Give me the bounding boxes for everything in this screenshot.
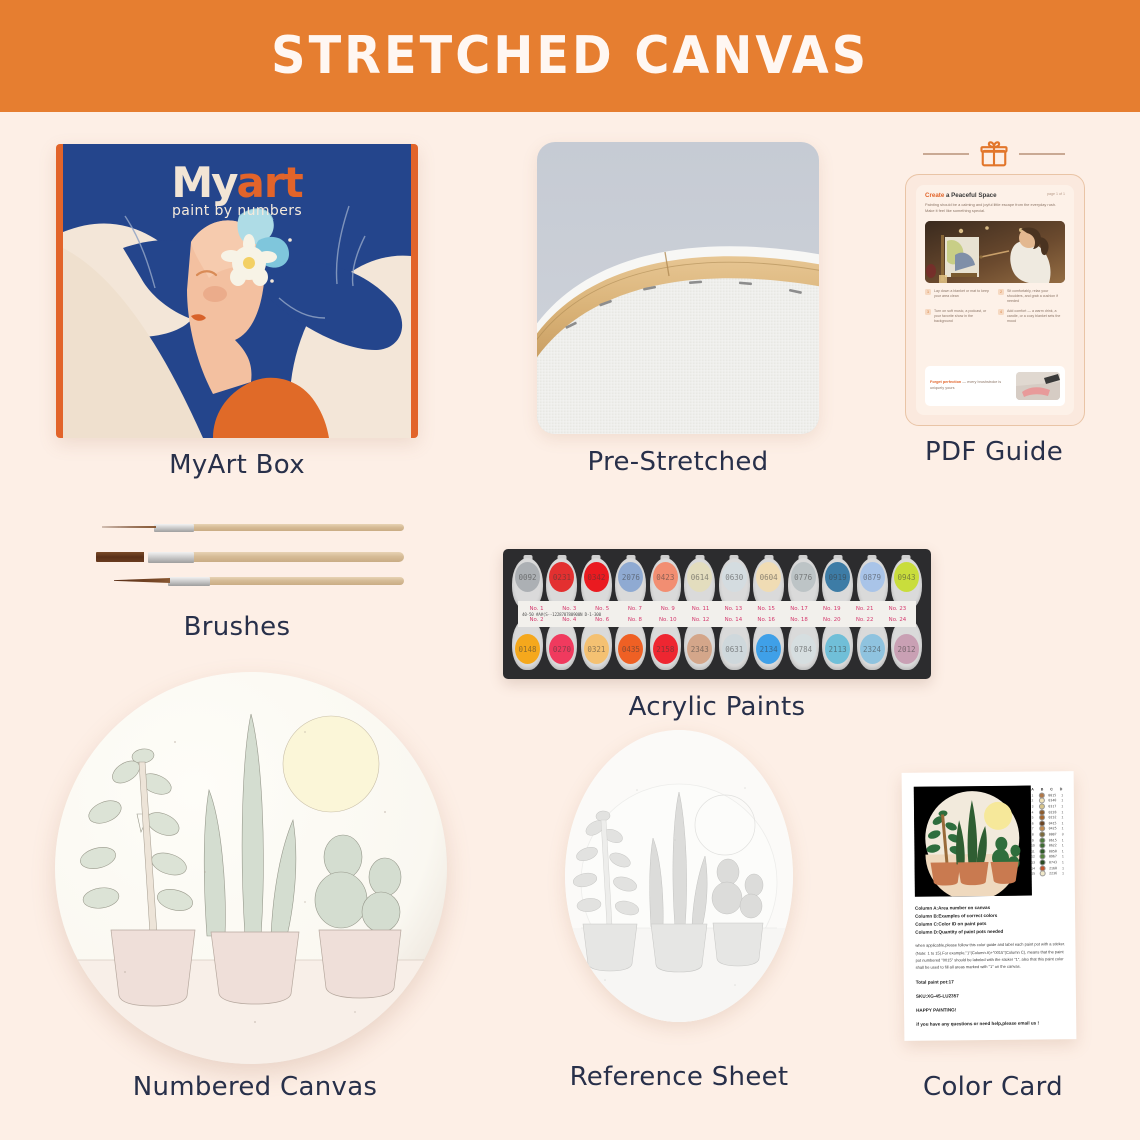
product-pdf-guide[interactable]: page 1 of 1 Create a Peaceful Space Pain… [901, 132, 1087, 432]
pdf-tip: 4 Add comfort — a warm drink, a candle, … [998, 309, 1065, 325]
divider-right [1019, 153, 1065, 155]
product-myart-box[interactable]: Myart paint by numbers MyArt Box [56, 144, 418, 438]
reference-sheet-image: Myart [565, 730, 793, 1022]
paint-code: 0270 [553, 645, 571, 654]
numbered-canvas-art [55, 672, 447, 1064]
col-b-header: B [1037, 787, 1047, 791]
caption-numbered-canvas: Numbered Canvas [55, 1072, 455, 1102]
paint-number: No. 2 [521, 617, 552, 623]
cell-c: 0967 [1047, 855, 1060, 859]
paint-number: No. 22 [849, 617, 880, 623]
paint-tray: 0092 0231 0342 2076 0423 0614 0630 0604 … [503, 549, 931, 679]
pdf-tip: 3 Turn on soft music, a podcast, or your… [925, 309, 992, 325]
cell-a: 6 [1028, 821, 1037, 825]
brush-flat [96, 552, 404, 562]
paint-code: 0342 [587, 573, 605, 582]
color-card-text: Column A:Area number on canvas Column B:… [915, 903, 1066, 1028]
cell-c: 2160 [1047, 866, 1060, 870]
cell-c: 0015 [1046, 793, 1059, 797]
paint-number: No. 10 [652, 617, 683, 623]
pdf-tip: 1 Lay down a blanket or mat to keep your… [925, 289, 992, 305]
cell-a: 7 [1028, 827, 1037, 831]
cell-d: 1 [1059, 838, 1066, 842]
paint-code: 0148 [518, 645, 536, 654]
cell-c: 0340 [1046, 799, 1059, 803]
paint-number: No. 12 [685, 617, 716, 623]
cell-d: 1 [1059, 804, 1066, 808]
cell-c: 0087 [1046, 832, 1059, 836]
paint-number: No. 14 [718, 617, 749, 623]
brush-round-medium [114, 577, 404, 585]
cell-d: 1 [1059, 860, 1066, 864]
cell-d: 1 [1059, 815, 1066, 819]
cell-d: 1 [1059, 793, 1066, 797]
product-pre-stretched[interactable]: Pre-Stretched [537, 142, 819, 434]
paint-code: 2158 [656, 645, 674, 654]
pdf-footer-bold: Forget perfection [930, 380, 961, 384]
pdf-footer-text: Forget perfection — every brushstroke is… [930, 380, 1012, 391]
cell-a: 8 [1028, 832, 1037, 836]
color-card-image: A B C D 100151 203401 303171 402281 5023… [902, 771, 1077, 1041]
cell-a: 3 [1028, 804, 1037, 808]
cell-c: 0228 [1046, 810, 1059, 814]
pdf-footer-note: Forget perfection — every brushstroke is… [925, 366, 1065, 406]
paint-label-strip: No. 1 No. 3 No. 5 No. 7 No. 9 No. 11 No.… [518, 601, 916, 627]
cell-a: 13 [1029, 860, 1038, 864]
cell-c: 0317 [1046, 804, 1059, 808]
gift-icon-row [901, 132, 1087, 176]
cell-d: 3 [1059, 832, 1066, 836]
cell-c: 2236 [1047, 871, 1060, 875]
paint-code: 0943 [897, 573, 915, 582]
paint-code: 0423 [656, 573, 674, 582]
paint-code: 2343 [691, 645, 709, 654]
box-image: Myart paint by numbers [56, 144, 418, 438]
cell-a: 14 [1029, 866, 1038, 870]
pdf-tip-badge: 2 [998, 289, 1004, 295]
divider-left [923, 153, 969, 155]
cell-a: 11 [1028, 849, 1037, 853]
cell-d: 1 [1059, 827, 1066, 831]
pdf-tip-text: Lay down a blanket or mat to keep your a… [934, 289, 992, 305]
color-swatch [1039, 871, 1045, 877]
caption-brushes: Brushes [56, 612, 418, 642]
pdf-tip-text: Turn on soft music, a podcast, or your f… [934, 309, 992, 325]
pre-stretched-image [537, 142, 819, 434]
cell-a: 1 [1028, 793, 1037, 797]
paint-code: 0879 [863, 573, 881, 582]
pdf-tip-text: Sit comfortably, relax your shoulders, a… [1007, 289, 1065, 305]
painting-woman-photo [925, 221, 1065, 283]
contact-line: if you have any questions or need help,p… [916, 1019, 1066, 1028]
paint-code: 2076 [622, 573, 640, 582]
cell-c: 0425 [1046, 827, 1059, 831]
pdf-footer-image [1016, 372, 1060, 400]
pdf-tips-list: 1 Lay down a blanket or mat to keep your… [925, 289, 1065, 324]
caption-acrylic-paints: Acrylic Paints [503, 692, 931, 722]
pdf-tip-badge: 3 [925, 309, 931, 315]
pdf-tip-badge: 1 [925, 289, 931, 295]
paint-number: No. 4 [554, 617, 585, 623]
page-header: STRETCHED CANVAS [0, 0, 1140, 112]
product-numbered-canvas[interactable]: Numbered Canvas [55, 672, 455, 1072]
cell-c: 0850 [1047, 849, 1060, 853]
cell-a: 10 [1028, 844, 1037, 848]
cell-c: 0743 [1047, 860, 1060, 864]
paint-code: 2113 [829, 645, 847, 654]
caption-pdf-guide: PDF Guide [901, 437, 1087, 467]
paint-code: 0776 [794, 573, 812, 582]
pdf-heading-rest: a Peaceful Space [944, 192, 996, 199]
product-brushes[interactable]: Brushes [56, 512, 418, 652]
color-card-table-header: A B C D [1028, 787, 1066, 791]
color-card-paragraph: when applicable,please follow this color… [915, 940, 1065, 971]
cell-c: 0622 [1046, 843, 1059, 847]
paint-code: 0631 [725, 645, 743, 654]
col-a-header: A [1028, 787, 1038, 791]
color-card-table: A B C D 100151 203401 303171 402281 5023… [1028, 787, 1067, 876]
cell-d: 1 [1059, 810, 1066, 814]
cell-d: 1 [1059, 821, 1066, 825]
product-grid: Myart paint by numbers MyArt Box [0, 112, 1140, 1140]
cell-d: 1 [1059, 866, 1066, 870]
cell-c: 0415 [1046, 821, 1059, 825]
paint-code: 2012 [897, 645, 915, 654]
col-d-header: D [1056, 787, 1066, 791]
paint-number: No. 18 [784, 617, 815, 623]
cell-a: 9 [1028, 838, 1037, 842]
caption-pre-stretched: Pre-Stretched [537, 447, 819, 477]
cell-a: 15 [1029, 872, 1038, 876]
color-card-artwork [914, 786, 1032, 897]
col-c-header: C [1047, 787, 1057, 791]
brushes-image [56, 512, 418, 602]
paint-code: 0231 [553, 573, 571, 582]
gift-icon [979, 139, 1009, 169]
cell-a: 5 [1028, 816, 1037, 820]
stretched-canvas-photo [537, 142, 819, 434]
cell-d: 1 [1059, 799, 1066, 803]
product-reference-sheet[interactable]: Myart [565, 730, 793, 1060]
paint-code: 0614 [691, 573, 709, 582]
logo-art-text: art [237, 158, 303, 207]
paint-code: 0321 [587, 645, 605, 654]
paint-code: 0092 [518, 573, 536, 582]
paint-code: 0630 [725, 573, 743, 582]
pdf-page-number: page 1 of 1 [1047, 192, 1065, 196]
paint-code: 0435 [622, 645, 640, 654]
paint-code: 0919 [829, 573, 847, 582]
pdf-card: page 1 of 1 Create a Peaceful Space Pain… [905, 174, 1085, 426]
table-row: 1522361 [1029, 870, 1067, 876]
cell-c: 0232 [1046, 815, 1059, 819]
paint-code: 2324 [863, 645, 881, 654]
paint-number: No. 8 [619, 617, 650, 623]
color-card-sku: SKU:XG-4S-LU2357 [916, 992, 1066, 1001]
cell-a: 2 [1028, 799, 1037, 803]
cell-c: 0615 [1046, 838, 1059, 842]
caption-color-card: Color Card [903, 1072, 1083, 1102]
pdf-tip-badge: 4 [998, 309, 1004, 315]
paint-code: 0604 [760, 573, 778, 582]
pdf-page: page 1 of 1 Create a Peaceful Space Pain… [916, 185, 1074, 415]
pdf-heading-highlight: Create [925, 192, 944, 199]
caption-myart-box: MyArt Box [56, 450, 418, 480]
pdf-photo [925, 221, 1065, 283]
color-card-art [914, 786, 1032, 897]
paint-number-row-even: No. 2 No. 4 No. 6 No. 8 No. 10 No. 12 No… [518, 617, 916, 623]
brushstroke-photo [1016, 372, 1060, 400]
cell-a: 12 [1028, 855, 1037, 859]
brush-round-fine [102, 524, 404, 531]
product-color-card[interactable]: A B C D 100151 203401 303171 402281 5023… [903, 772, 1083, 1072]
paint-number: No. 6 [587, 617, 618, 623]
product-acrylic-paints[interactable]: 0092 0231 0342 2076 0423 0614 0630 0604 … [503, 549, 931, 679]
total-paint-pot: Total paint pot:17 [916, 977, 1066, 986]
logo-my-text: My [171, 158, 236, 207]
numbered-canvas-image [55, 672, 447, 1064]
reference-sheet-art [565, 730, 793, 1022]
paint-number: No. 16 [751, 617, 782, 623]
pdf-tip-text: Add comfort — a warm drink, a candle, or… [1007, 309, 1065, 325]
paint-code: 0784 [794, 645, 812, 654]
cell-d: 1 [1059, 843, 1066, 847]
page-title: STRETCHED CANVAS [271, 26, 869, 86]
cell-d: 1 [1059, 855, 1066, 859]
paint-number: No. 20 [816, 617, 847, 623]
paint-code: 2134 [760, 645, 778, 654]
cell-a: 4 [1028, 810, 1037, 814]
myart-logo: Myart paint by numbers [56, 158, 418, 219]
cell-d: 1 [1059, 871, 1066, 875]
logo-tagline: paint by numbers [56, 203, 418, 219]
legend-line: Column D:Quantity of paint pots needed [915, 927, 1065, 937]
happy-painting: HAPPY PAINTING! [916, 1005, 1066, 1014]
caption-reference-sheet: Reference Sheet [565, 1062, 793, 1092]
pdf-intro: Painting should be a calming and joyful … [925, 202, 1065, 214]
paint-number: No. 24 [882, 617, 913, 623]
paint-pots-area: 0092 0231 0342 2076 0423 0614 0630 0604 … [512, 558, 922, 670]
cell-d: 1 [1059, 849, 1066, 853]
pdf-tip: 2 Sit comfortably, relax your shoulders,… [998, 289, 1065, 305]
